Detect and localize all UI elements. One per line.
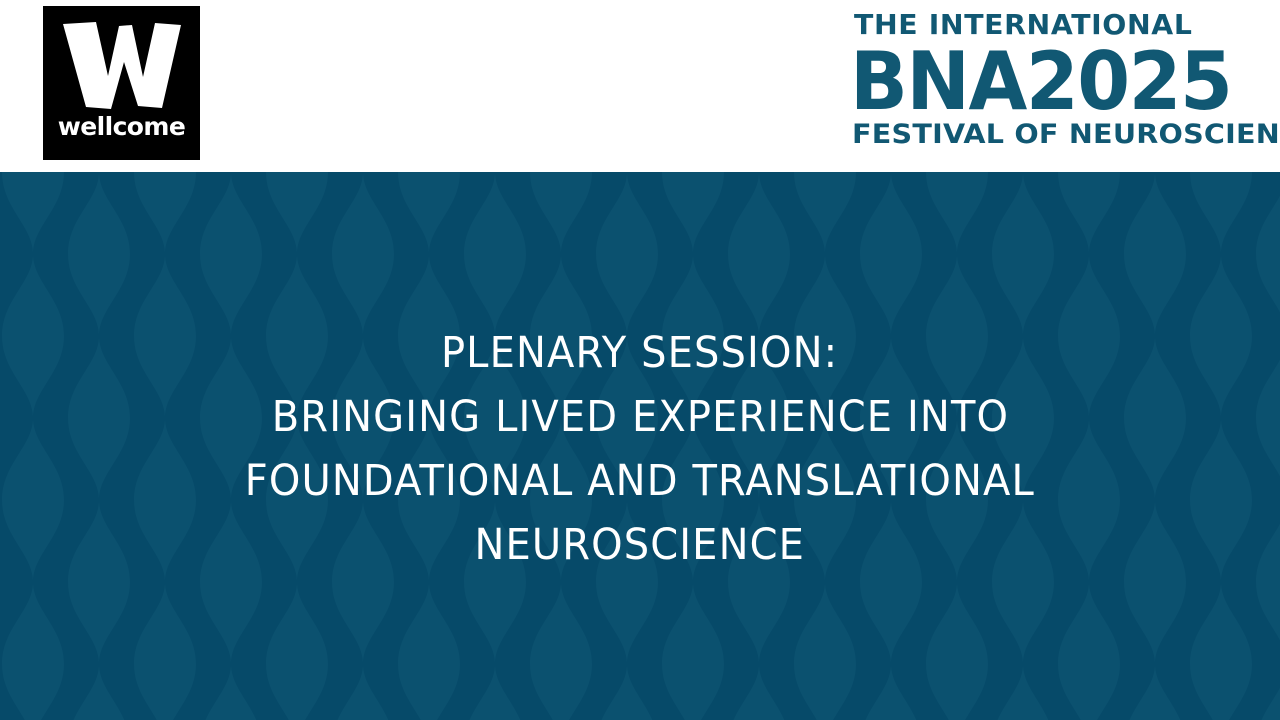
title-line-3: FOUNDATIONAL AND TRANSLATIONAL bbox=[245, 449, 1035, 513]
title-line-4: NEUROSCIENCE bbox=[475, 513, 806, 577]
bna-logo-line-bottom: FESTIVAL OF NEUROSCIENCE bbox=[852, 122, 1280, 149]
bna-2025-logo: THE INTERNATIONAL BNA2025 FESTIVAL OF NE… bbox=[850, 12, 1230, 157]
slide-body: PLENARY SESSION: BRINGING LIVED EXPERIEN… bbox=[0, 172, 1280, 720]
wellcome-logo: wellcome bbox=[43, 6, 200, 160]
title-line-1: PLENARY SESSION: bbox=[441, 321, 838, 385]
wellcome-wordmark: wellcome bbox=[43, 114, 200, 139]
title-line-2: BRINGING LIVED EXPERIENCE INTO bbox=[271, 385, 1008, 449]
presentation-slide: wellcome THE INTERNATIONAL BNA2025 FESTI… bbox=[0, 0, 1280, 720]
slide-header-band: wellcome THE INTERNATIONAL BNA2025 FESTI… bbox=[0, 0, 1280, 172]
bna-logo-line-main: BNA2025 bbox=[850, 41, 1231, 122]
wellcome-w-monogram-icon bbox=[60, 20, 184, 110]
slide-title: PLENARY SESSION: BRINGING LIVED EXPERIEN… bbox=[0, 172, 1280, 720]
